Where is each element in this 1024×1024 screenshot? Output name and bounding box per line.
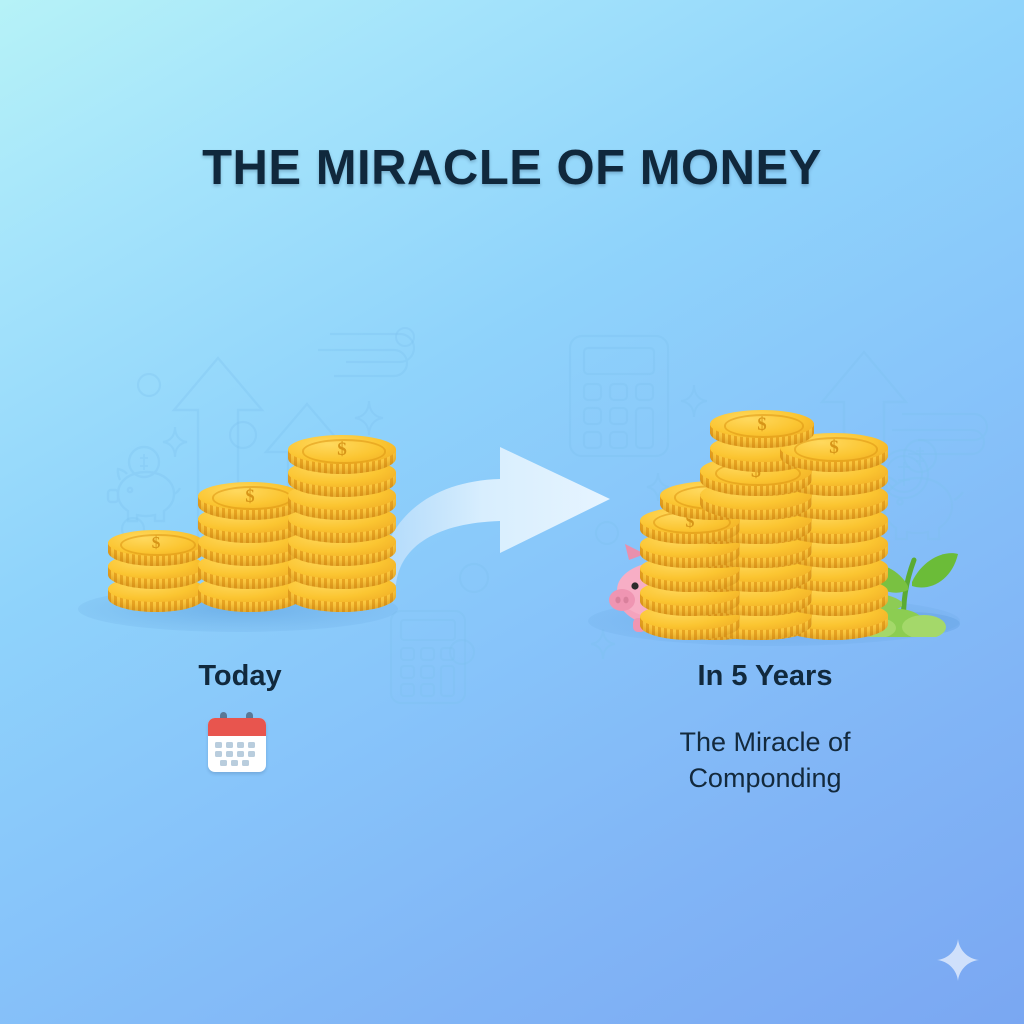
- dollar-sign: $: [710, 415, 814, 434]
- page-title: THE MIRACLE OF MONEY: [0, 140, 1024, 196]
- subtitle-compounding: The Miracle of Componding: [600, 725, 930, 796]
- circle-outline-icon: [448, 638, 476, 666]
- circle-outline-icon: [394, 326, 416, 348]
- dollar-sign: $: [198, 487, 302, 506]
- circle-outline-icon: [136, 372, 162, 398]
- coin: $: [288, 435, 396, 474]
- coin-stack: $: [198, 482, 302, 612]
- coin-stack: $: [640, 507, 740, 640]
- sparkle-outline-icon: [678, 382, 710, 420]
- coin-stack: $: [288, 435, 396, 612]
- cloud-outline-icon: [878, 398, 1018, 460]
- infographic-poster: THE MIRACLE OF MONEY $$$ $$$$$: [0, 0, 1024, 1024]
- coin: $: [198, 482, 302, 520]
- curved-right-arrow-icon: [372, 437, 617, 587]
- cloud-outline-icon: [300, 316, 440, 382]
- label-today: Today: [100, 660, 380, 693]
- sparkle-icon: [936, 938, 980, 982]
- sparkle-outline-icon: [352, 398, 386, 438]
- calendar-icon: [208, 718, 266, 772]
- sparkle-outline-icon: [160, 424, 190, 460]
- label-in-5-years: In 5 Years: [620, 660, 910, 693]
- dollar-sign: $: [108, 534, 204, 552]
- coin: $: [710, 410, 814, 448]
- coin: $: [108, 530, 204, 566]
- coin-stack: $: [108, 530, 204, 612]
- dollar-sign: $: [288, 440, 396, 460]
- circle-outline-icon: [228, 420, 258, 450]
